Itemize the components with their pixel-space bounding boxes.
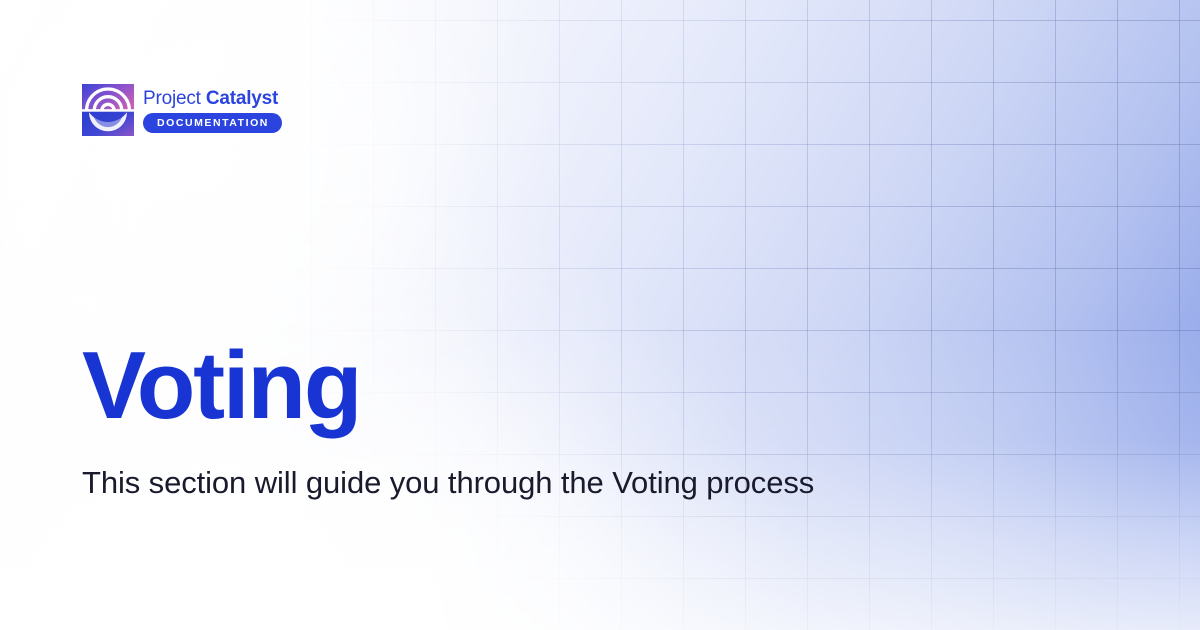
page-subtitle: This section will guide you through the … (82, 462, 882, 503)
wordmark-project: Project (143, 88, 201, 109)
page-title: Voting (82, 336, 982, 436)
hero-text-block: Voting This section will guide you throu… (82, 336, 982, 503)
wordmark-catalyst: Catalyst (206, 88, 278, 109)
og-banner-card: Project Catalyst DOCUMENTATION Voting Th… (0, 0, 1200, 630)
brand-wordmark: Project Catalyst (143, 88, 278, 109)
brand-text-column: Project Catalyst DOCUMENTATION (143, 87, 282, 134)
project-catalyst-logo-icon (82, 84, 134, 136)
brand-logo-lockup[interactable]: Project Catalyst DOCUMENTATION (82, 84, 282, 136)
documentation-badge: DOCUMENTATION (143, 113, 282, 134)
